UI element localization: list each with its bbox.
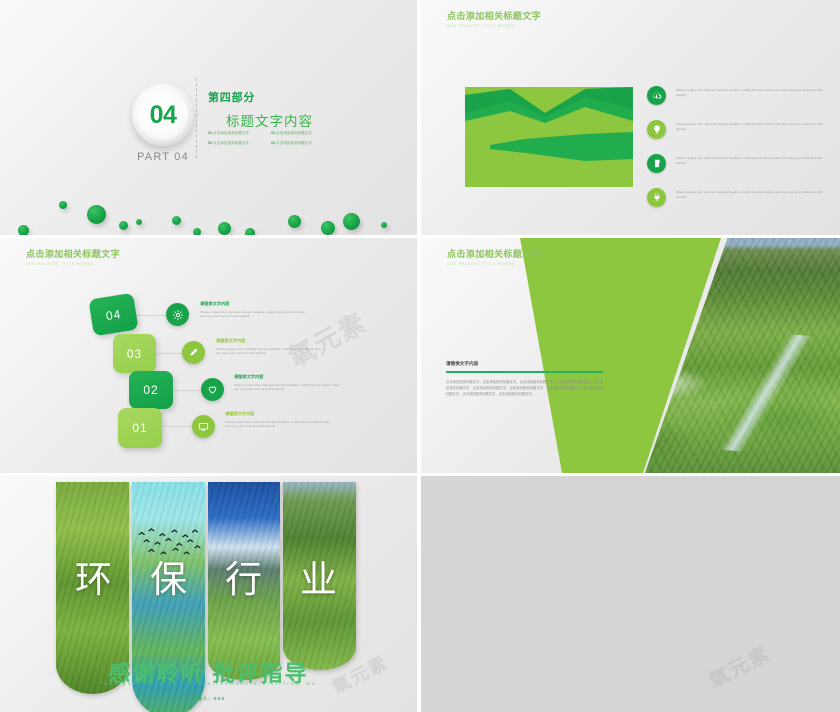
slide4-title-block: 点击添加相关标题文字 ADD RELATED TITLE WORDS	[447, 247, 541, 266]
decor-dot	[18, 225, 29, 235]
decor-dot	[288, 215, 301, 228]
step-number: 03	[127, 347, 142, 361]
decor-dot	[321, 221, 335, 235]
gear-glyph	[172, 309, 184, 321]
slide2-title-block: 点击添加相关标题文字 ADD RELATED TITLE WORDS	[447, 9, 541, 28]
landscape-illustration	[465, 87, 633, 187]
decor-dot	[381, 222, 387, 228]
list-item: 02 点击添加相关标题文字	[271, 131, 328, 136]
badge-inner-disc: 04	[138, 90, 188, 140]
list-item: 03 点击添加相关标题文字	[208, 141, 265, 146]
slide3-title-en: ADD RELATED TITLE WORDS	[26, 262, 120, 266]
leader-line	[134, 315, 166, 316]
decor-dot	[245, 228, 255, 235]
lightbulb-glyph	[652, 124, 662, 135]
item-label: 点击添加相关标题文字	[276, 141, 312, 145]
list-item[interactable]: Please replace text, click and relevant …	[647, 154, 827, 178]
leader-line	[158, 426, 192, 427]
gear-icon[interactable]	[166, 303, 189, 326]
step-text-02: 请替换文字内容 Please replace text, click add r…	[234, 374, 342, 392]
slide4-body-block: 请替换文字内容 点击添加相关标题文字，点击添加相关标题文字，点击添加相关标题文字…	[446, 361, 603, 397]
decor-dot	[193, 228, 201, 235]
plug-icon[interactable]	[647, 188, 666, 207]
hero-title: 环 保 行 业	[56, 551, 356, 601]
decor-dot	[119, 221, 128, 230]
step-box-04[interactable]: 04	[88, 293, 138, 337]
vertical-dashed-divider	[196, 78, 197, 158]
decor-dot	[172, 216, 181, 225]
cloud-download-glyph	[651, 90, 662, 101]
step-box-03[interactable]: 03	[113, 334, 156, 373]
decor-dot	[136, 219, 142, 225]
slide1-subtitle-grid: 01 点击添加相关标题文字 02 点击添加相关标题文字 03 点击添加相关标题文…	[208, 131, 328, 146]
list-item[interactable]: Please replace text, click and relevant …	[647, 86, 827, 110]
slide4-body: 点击添加相关标题文字，点击添加相关标题文字，点击添加相关标题文字，点击添加相关标…	[446, 379, 603, 397]
step-heading: 请替换文字内容	[225, 411, 333, 417]
feature-body: Please replace text, click and relevant …	[676, 88, 827, 98]
pencil-icon[interactable]	[182, 341, 205, 364]
slide4-title-en: ADD RELATED TITLE WORDS	[447, 262, 541, 266]
cloud-download-icon[interactable]	[647, 86, 666, 105]
step-number: 01	[132, 421, 147, 435]
feature-text-wrap: Please replace text, click and relevant …	[676, 120, 827, 132]
hero-char: 行	[206, 549, 281, 603]
list-item: 01 点击添加相关标题文字	[208, 131, 265, 136]
list-item[interactable]: Please replace text, click and relevant …	[647, 188, 827, 212]
step-number: 02	[143, 383, 158, 397]
slide-1-section-divider[interactable]: 04 PART 04 第四部分 标题文字内容 01 点击添加相关标题文字 02 …	[0, 0, 417, 235]
slide-5-thank-you[interactable]: 环 保 行 业 感谢聆听 批评指导 Take good care of the …	[0, 476, 417, 712]
item-number: 01	[208, 131, 212, 135]
step-heading: 请替换文字内容	[216, 338, 324, 344]
step-box-01[interactable]: 01	[118, 408, 162, 448]
part-number: 04	[150, 101, 177, 130]
pencil-glyph	[188, 347, 199, 358]
feature-body: Please replace text, click and relevant …	[676, 122, 827, 132]
slide4-title-cn: 点击添加相关标题文字	[447, 247, 541, 260]
list-item[interactable]: Please replace text, click and relevant …	[647, 120, 827, 144]
slide1-title-main: 第四部分	[208, 89, 255, 105]
plug-glyph	[652, 192, 662, 203]
hero-char: 业	[281, 549, 356, 603]
part-number-badge: 04	[132, 84, 194, 146]
slide2-title-cn: 点击添加相关标题文字	[447, 9, 541, 22]
thanks-subheading: Take good care of the environment Starts…	[0, 681, 417, 686]
watermark: 氧元素	[703, 637, 775, 694]
slide2-title-en: ADD RELATED TITLE WORDS	[447, 24, 541, 28]
reporter-line: 汇报人：XXX	[0, 696, 417, 702]
empty-placeholder-area: 氧元素	[421, 476, 840, 712]
feature-text-wrap: Please replace text, click and relevant …	[676, 154, 827, 166]
step-heading: 请替换文字内容	[200, 301, 308, 307]
slide-2-overview[interactable]: 点击添加相关标题文字 ADD RELATED TITLE WORDS Pleas…	[421, 0, 840, 235]
step-body: Please replace text, click add relevant …	[234, 383, 342, 393]
item-label: 点击添加相关标题文字	[213, 131, 249, 135]
step-body: Please replace text, click add relevant …	[216, 347, 324, 357]
step-box-02[interactable]: 02	[129, 371, 173, 409]
slide-deck-preview: 04 PART 04 第四部分 标题文字内容 01 点击添加相关标题文字 02 …	[0, 0, 840, 712]
step-body: Please replace text, click add relevant …	[200, 310, 308, 320]
slide-4-photo-text[interactable]: 点击添加相关标题文字 ADD RELATED TITLE WORDS 请替换文字…	[421, 238, 840, 473]
step-body: Please replace text, click add relevant …	[225, 420, 333, 430]
feature-text-wrap: Please replace text, click and relevant …	[676, 86, 827, 98]
feature-body: Please replace text, click and relevant …	[676, 190, 827, 200]
slide4-heading: 请替换文字内容	[446, 361, 603, 367]
item-number: 02	[271, 131, 275, 135]
river-highlight	[684, 324, 840, 462]
item-label: 点击添加相关标题文字	[276, 131, 312, 135]
monitor-glyph	[198, 421, 209, 432]
decor-dot	[59, 201, 67, 209]
slide1-title-sub: 标题文字内容	[226, 110, 313, 130]
step-heading: 请替换文字内容	[234, 374, 342, 380]
monitor-icon[interactable]	[192, 415, 215, 438]
feature-text-wrap: Please replace text, click and relevant …	[676, 188, 827, 200]
feature-list: Please replace text, click and relevant …	[647, 86, 827, 222]
decor-dot	[87, 205, 106, 224]
step-text-04: 请替换文字内容 Please replace text, click add r…	[200, 301, 308, 319]
heart-icon[interactable]	[201, 378, 224, 401]
decor-dot	[343, 213, 360, 230]
slide-3-steps[interactable]: 点击添加相关标题文字 ADD RELATED TITLE WORDS 04 请替…	[0, 238, 417, 473]
decor-dot	[218, 222, 231, 235]
part-label: PART 04	[118, 151, 208, 163]
slide3-title-cn: 点击添加相关标题文字	[26, 247, 120, 260]
heart-glyph	[207, 384, 218, 395]
leaf-glyph	[652, 158, 662, 169]
lightbulb-icon[interactable]	[647, 120, 666, 139]
leader-line	[152, 353, 182, 354]
hero-char: 环	[56, 549, 131, 603]
item-number: 04	[271, 141, 275, 145]
step-number: 04	[105, 306, 122, 322]
leaf-icon[interactable]	[647, 154, 666, 173]
step-text-03: 请替换文字内容 Please replace text, click add r…	[216, 338, 324, 356]
list-item: 04 点击添加相关标题文字	[271, 141, 328, 146]
feature-body: Please replace text, click and relevant …	[676, 156, 827, 166]
item-label: 点击添加相关标题文字	[213, 141, 249, 145]
item-number: 03	[208, 141, 212, 145]
hero-char: 保	[131, 549, 206, 603]
heading-underline	[446, 371, 603, 373]
step-text-01: 请替换文字内容 Please replace text, click add r…	[225, 411, 333, 429]
slide3-title-block: 点击添加相关标题文字 ADD RELATED TITLE WORDS	[26, 247, 120, 266]
